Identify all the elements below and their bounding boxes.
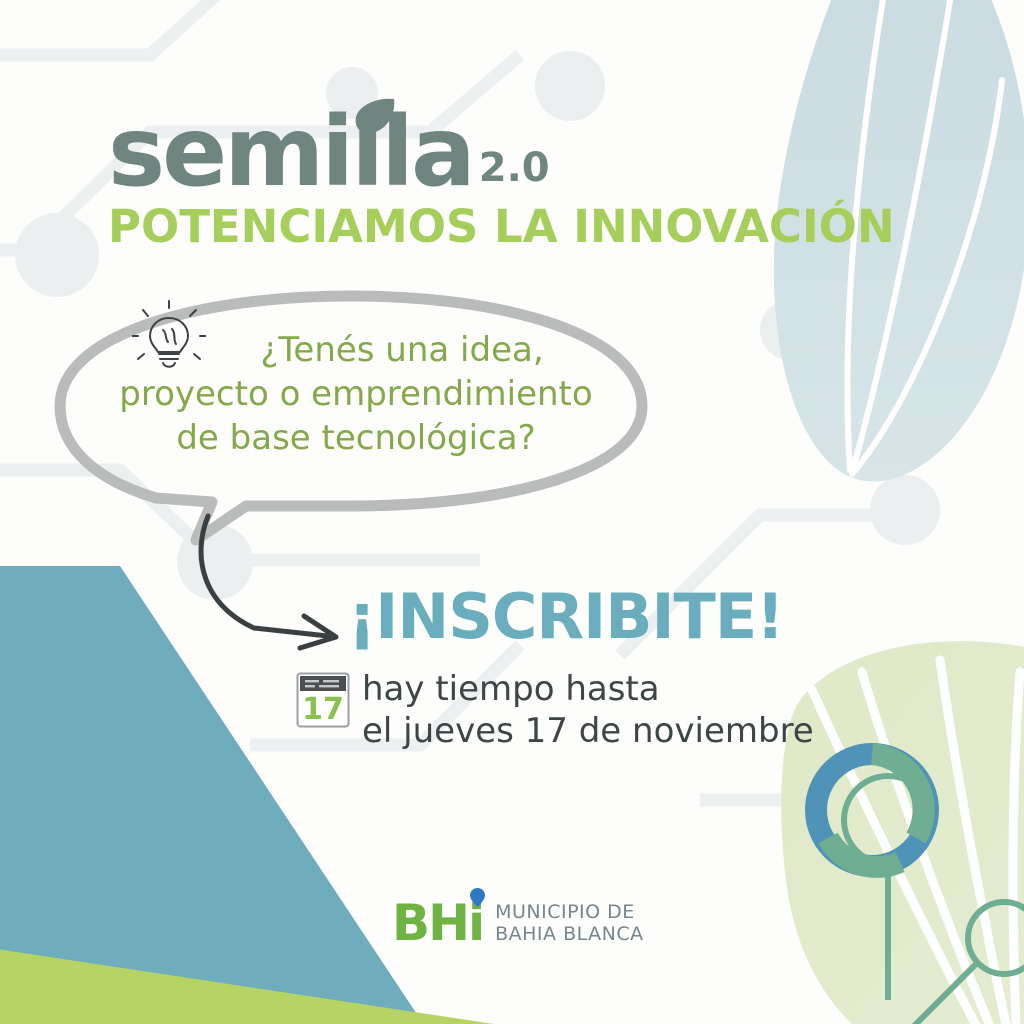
deadline-row: 17 hay tiempo hasta el jueves 17 de novi… xyxy=(296,668,908,752)
brand-logo-block: semilla2.0 POTENCIAMOS LA INNOVACIÓN xyxy=(108,104,868,252)
bubble-line-1: ¿Tenés una idea, xyxy=(76,328,636,372)
bubble-line-2: proyecto o emprendimiento xyxy=(76,372,636,416)
deadline-line-2: el jueves 17 de noviembre xyxy=(362,710,814,752)
poster-canvas: semilla2.0 POTENCIAMOS LA INNOVACIÓN xyxy=(0,0,1024,1024)
question-bubble: ¿Tenés una idea, proyecto o emprendimien… xyxy=(36,288,666,548)
calendar-icon: 17 xyxy=(296,672,350,728)
leaf-icon xyxy=(354,96,398,136)
bhi-logo-mark: BHi xyxy=(392,898,483,948)
bhi-org-line-2: BAHIA BLANCA xyxy=(495,923,644,945)
ring-accent xyxy=(816,754,928,867)
wordmark-text: semilla xyxy=(108,104,473,200)
band-bottom-left-tip xyxy=(0,952,330,1024)
map-pin-icon xyxy=(470,888,485,907)
bubble-text: ¿Tenés una idea, proyecto o emprendimien… xyxy=(76,328,636,460)
curved-arrow-icon xyxy=(196,512,366,652)
call-to-action-block: ¡INSCRIBITE! 17 hay tiempo hasta el juev… xyxy=(348,584,908,752)
bhi-org-line-1: MUNICIPIO DE xyxy=(495,901,644,923)
wordmark-version: 2.0 xyxy=(479,148,550,188)
calendar-day: 17 xyxy=(302,692,344,727)
deadline-line-1: hay tiempo hasta xyxy=(362,668,814,710)
bhi-org-name: MUNICIPIO DE BAHIA BLANCA xyxy=(495,901,644,945)
wordmark: semilla2.0 xyxy=(108,104,868,200)
brand-tagline: POTENCIAMOS LA INNOVACIÓN xyxy=(108,202,868,252)
bubble-line-3: de base tecnológica? xyxy=(76,416,636,460)
deadline-text: hay tiempo hasta el jueves 17 de noviemb… xyxy=(362,668,814,752)
footer-logo: BHi MUNICIPIO DE BAHIA BLANCA xyxy=(392,898,644,948)
cta-headline: ¡INSCRIBITE! xyxy=(348,584,908,650)
band-bottom-left xyxy=(0,948,560,1024)
